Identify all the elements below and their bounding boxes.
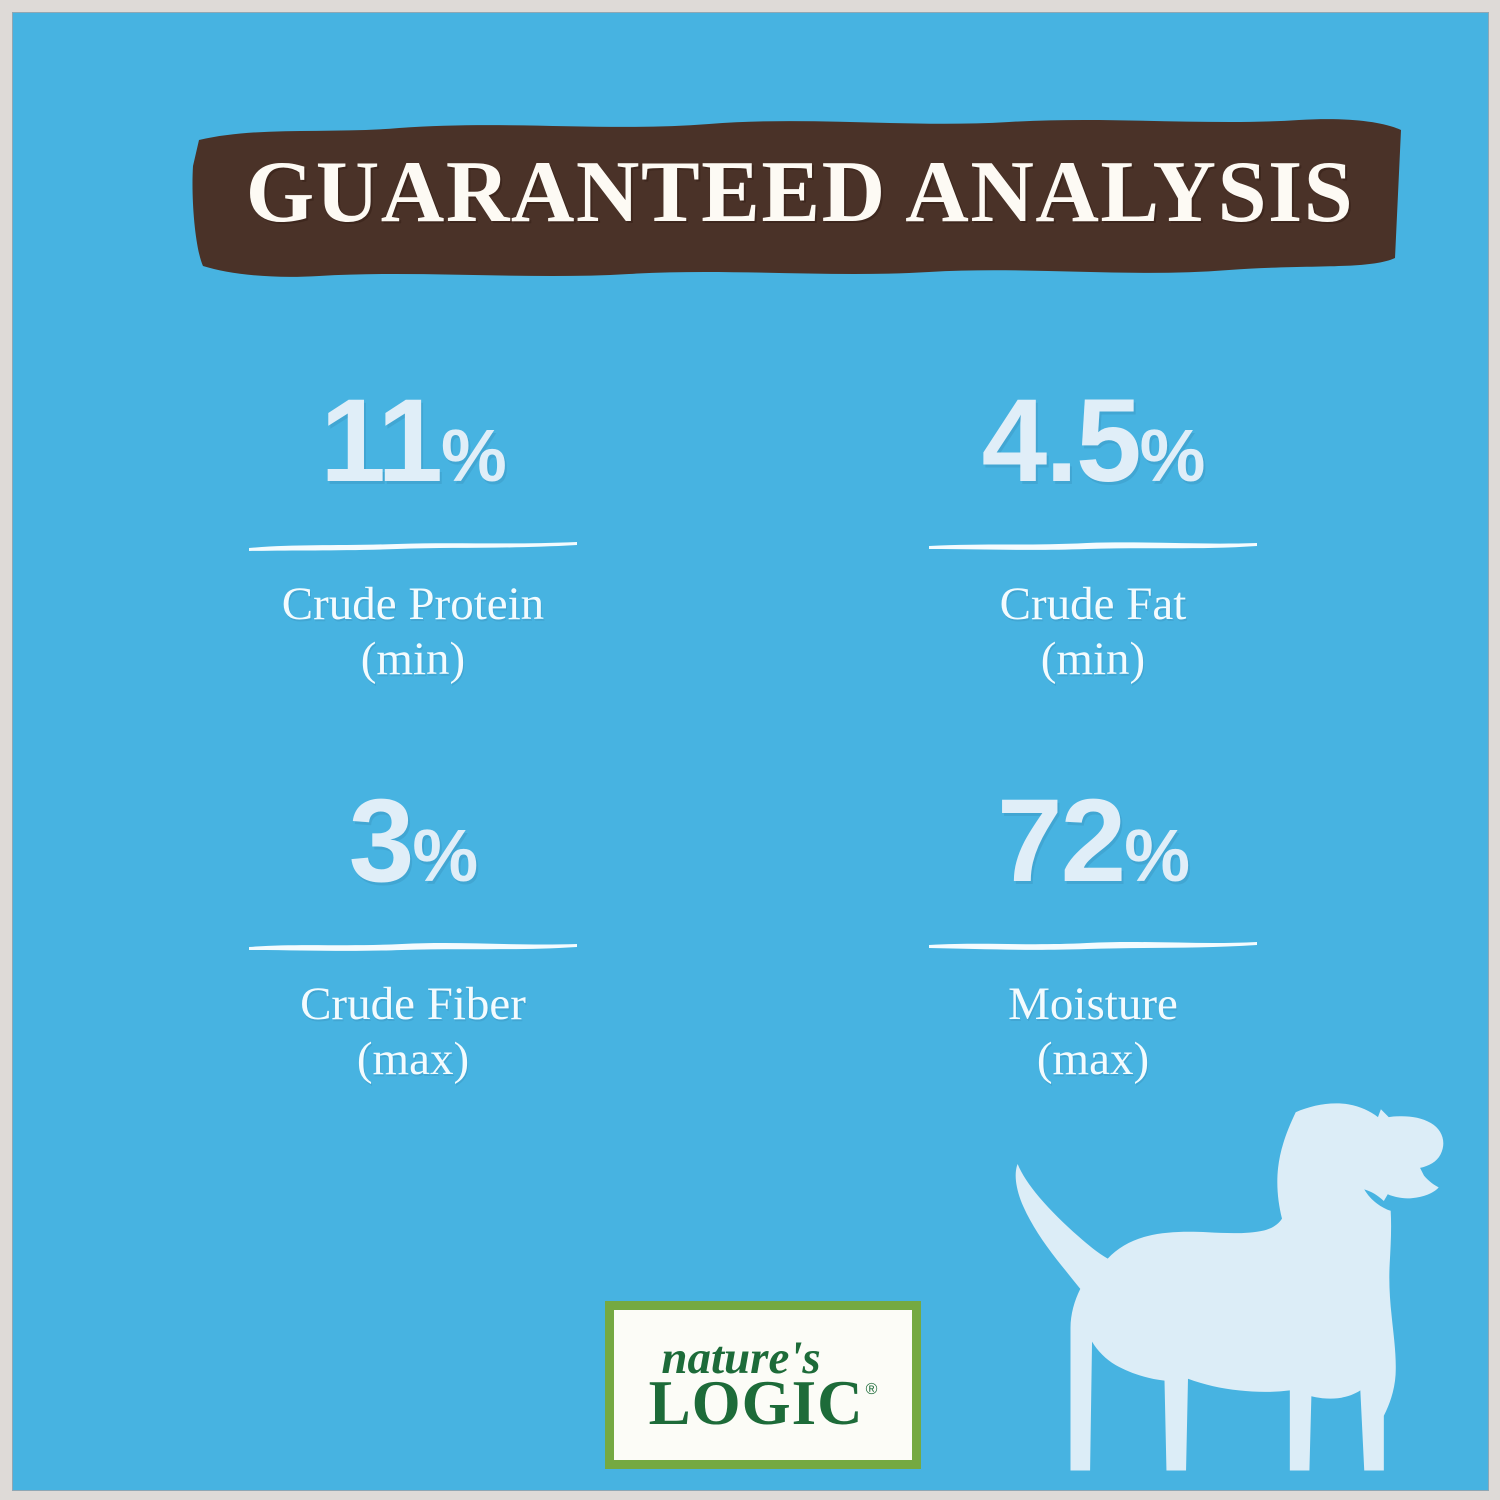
stat-block-crude-fat: 4.5% Crude Fat (min): [753, 381, 1433, 781]
stat-qualifier-crude-protein: (min): [361, 632, 465, 687]
stat-label-crude-fiber: Crude Fiber: [300, 977, 526, 1032]
divider-rule: [927, 931, 1259, 961]
stat-label-crude-protein: Crude Protein: [282, 577, 544, 632]
stat-number: 4.5: [982, 381, 1140, 501]
stats-grid: 11% Crude Protein (min) 4.5%: [73, 381, 1433, 1181]
brush-rule-icon: [927, 931, 1259, 961]
stat-value-crude-protein: 11%: [320, 381, 506, 513]
dog-silhouette-icon: [1000, 1080, 1470, 1490]
percent-sign: %: [412, 818, 477, 893]
logo-main-row: LOGIC ®: [649, 1373, 878, 1433]
percent-sign: %: [1140, 418, 1205, 493]
brush-rule-icon: [247, 931, 579, 961]
divider-rule: [247, 531, 579, 561]
stat-qualifier-crude-fat: (min): [1041, 632, 1145, 687]
page-title: GUARANTEED ANALYSIS: [189, 108, 1411, 283]
stat-qualifier-crude-fiber: (max): [357, 1032, 469, 1087]
header-banner: GUARANTEED ANALYSIS: [189, 108, 1411, 283]
divider-rule: [927, 531, 1259, 561]
stat-number: 72: [997, 781, 1124, 901]
percent-sign: %: [441, 418, 506, 493]
stat-value-crude-fat: 4.5%: [982, 381, 1205, 513]
brush-rule-icon: [927, 531, 1259, 561]
stat-label-moisture: Moisture: [1008, 977, 1178, 1032]
registered-trademark-icon: ®: [866, 1381, 878, 1399]
stat-number: 11: [320, 381, 441, 501]
natures-logic-logo[interactable]: nature's LOGIC ®: [605, 1301, 921, 1469]
stat-label-crude-fat: Crude Fat: [1000, 577, 1187, 632]
dog-silhouette-shape: [1000, 1080, 1470, 1490]
stat-block-crude-fiber: 3% Crude Fiber (max): [73, 781, 753, 1181]
brush-rule-icon: [247, 531, 579, 561]
percent-sign: %: [1124, 818, 1189, 893]
infographic-canvas: GUARANTEED ANALYSIS 11% Crude Protein (m…: [0, 0, 1500, 1500]
stat-value-crude-fiber: 3%: [349, 781, 477, 913]
guaranteed-analysis-card: GUARANTEED ANALYSIS 11% Crude Protein (m…: [13, 13, 1488, 1490]
stat-block-crude-protein: 11% Crude Protein (min): [73, 381, 753, 781]
divider-rule: [247, 931, 579, 961]
stat-value-moisture: 72%: [997, 781, 1189, 913]
stat-number: 3: [349, 781, 413, 901]
logo-main-word: LOGIC: [649, 1373, 864, 1433]
logo-inner-panel: nature's LOGIC ®: [614, 1310, 912, 1460]
